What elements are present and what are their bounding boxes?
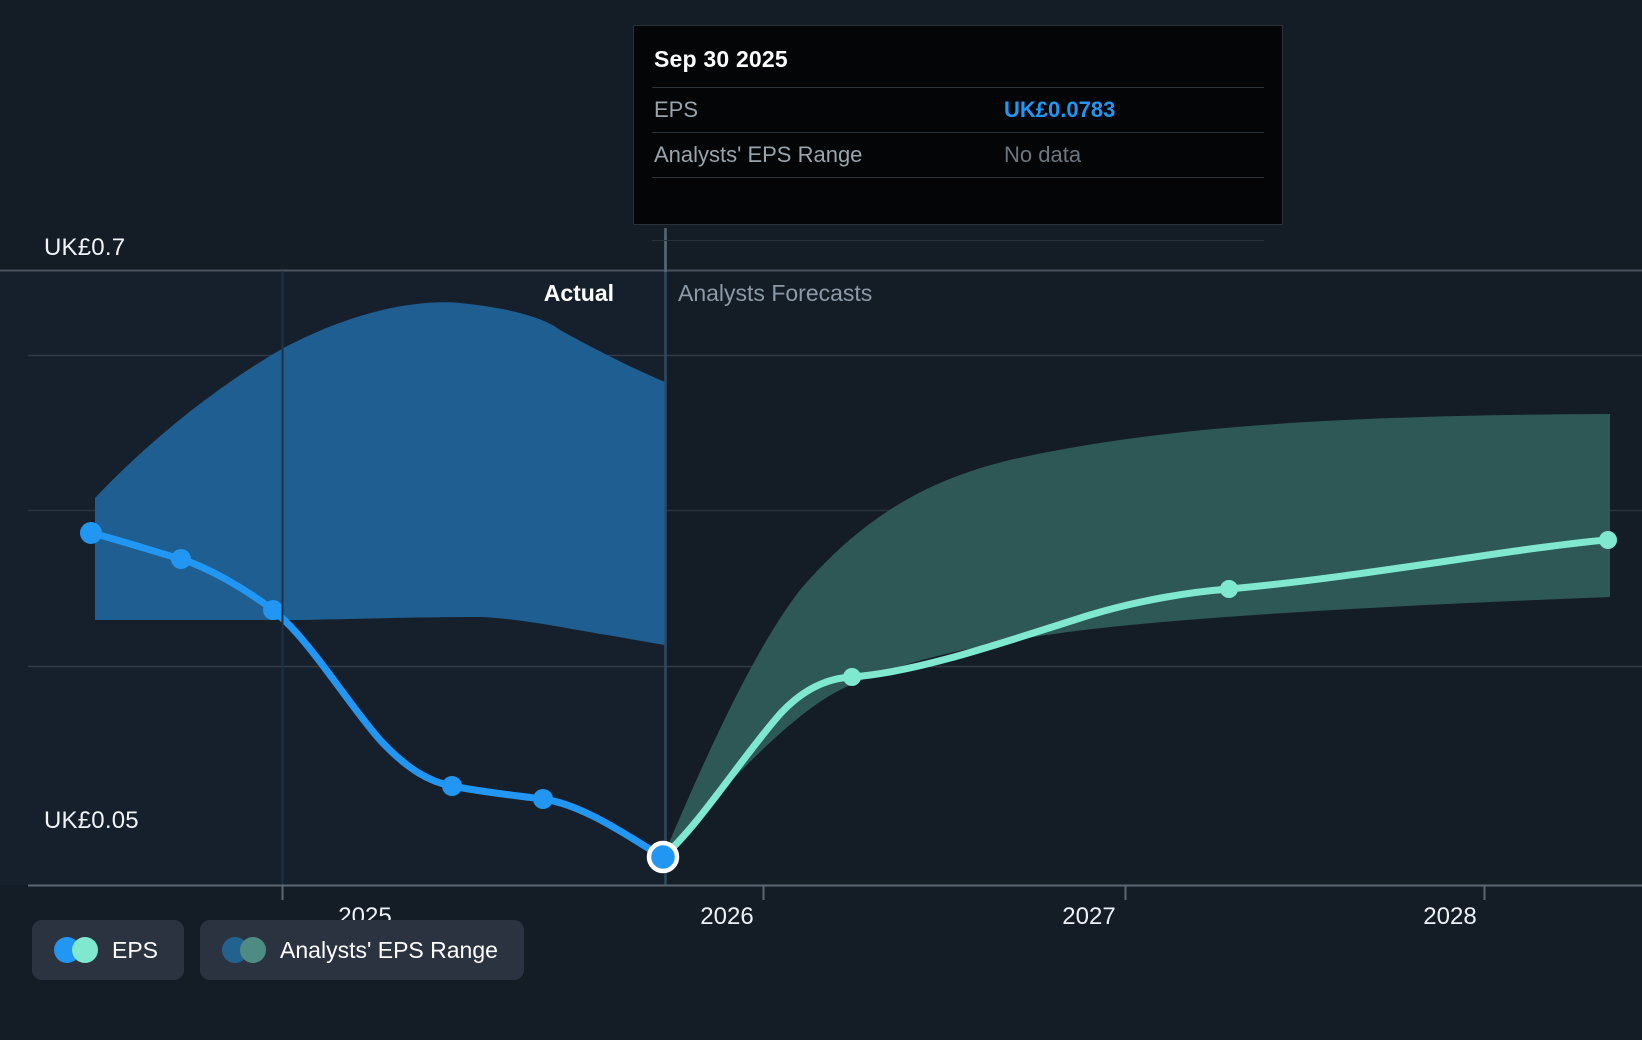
x-axis-label-2027: 2027 (1062, 903, 1115, 931)
legend-swatch-eps-icon (54, 937, 98, 963)
phase-label-forecast: Analysts Forecasts (678, 280, 872, 307)
legend-item-analysts-range[interactable]: Analysts' EPS Range (200, 920, 524, 980)
data-point (263, 600, 283, 620)
phase-label-actual: Actual (544, 280, 614, 307)
highlighted-data-point[interactable] (649, 843, 677, 871)
data-point (442, 776, 462, 796)
analysts-range-band-forecast (663, 414, 1610, 857)
legend-swatch-range-icon (222, 937, 266, 963)
data-point (80, 522, 102, 544)
tooltip-spacer (652, 178, 1264, 240)
tooltip-value-eps: UK£0.0783 (1004, 97, 1115, 123)
y-axis-label-min: UK£0.05 (44, 807, 139, 835)
legend-item-eps[interactable]: EPS (32, 920, 184, 980)
x-axis (28, 886, 1642, 901)
data-point (171, 549, 191, 569)
data-point (1220, 580, 1238, 598)
chart-legend: EPS Analysts' EPS Range (32, 920, 524, 980)
x-axis-label-2026: 2026 (700, 903, 753, 931)
legend-label-eps: EPS (112, 937, 158, 964)
tooltip-value-range: No data (1004, 142, 1081, 168)
tooltip-label-eps: EPS (652, 97, 1004, 123)
chart-tooltip: Sep 30 2025 EPS UK£0.0783 Analysts' EPS … (633, 25, 1283, 225)
tooltip-row-range: Analysts' EPS Range No data (652, 132, 1264, 178)
data-point (533, 789, 553, 809)
tooltip-row-eps: EPS UK£0.0783 (652, 87, 1264, 132)
tooltip-label-range: Analysts' EPS Range (652, 142, 1004, 168)
tooltip-date: Sep 30 2025 (652, 44, 1264, 87)
data-point (843, 668, 861, 686)
x-axis-label-2028: 2028 (1423, 903, 1476, 931)
y-axis-label-max: UK£0.7 (44, 234, 125, 262)
legend-label-analysts-range: Analysts' EPS Range (280, 937, 498, 964)
chart-canvas: UK£0.7 UK£0.05 2025 2026 2027 2028 Actua… (0, 0, 1642, 1040)
data-point (1599, 531, 1617, 549)
tooltip-footer-rule (652, 240, 1264, 241)
